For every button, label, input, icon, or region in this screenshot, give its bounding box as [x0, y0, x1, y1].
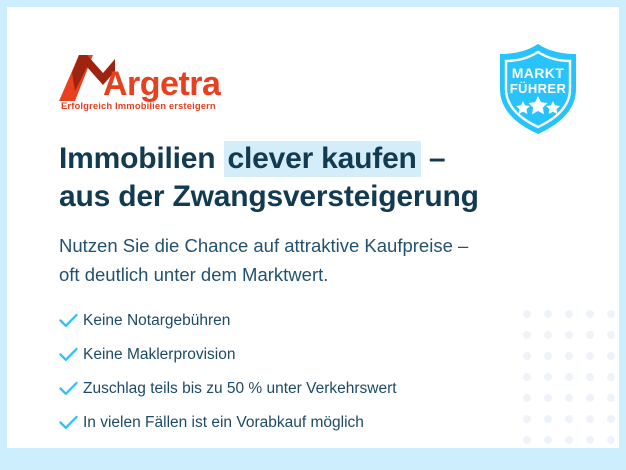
grid-dot — [544, 394, 552, 402]
headline-highlight: clever kaufen — [224, 141, 421, 177]
benefit-list: Keine Notargebühren Keine Maklerprovisio… — [59, 306, 397, 442]
banner-card: Argetra Erfolgreich Immobilien ersteiger… — [7, 7, 619, 448]
grid-dot — [565, 310, 573, 318]
headline-line-1: Immobilien clever kaufen – — [59, 140, 479, 178]
grid-dot — [565, 415, 573, 423]
grid-dot — [586, 310, 594, 318]
grid-dot — [523, 415, 531, 423]
headline-text-after: – — [421, 142, 446, 175]
grid-dot — [607, 310, 615, 318]
grid-dot — [565, 436, 573, 444]
grid-dot — [607, 394, 615, 402]
grid-dot — [607, 415, 615, 423]
grid-dot — [523, 352, 531, 360]
check-icon — [59, 347, 83, 362]
list-item: Zuschlag teils bis zu 50 % unter Verkehr… — [59, 374, 397, 403]
grid-dot — [607, 331, 615, 339]
promo-banner: Argetra Erfolgreich Immobilien ersteiger… — [0, 0, 626, 470]
grid-dot — [565, 394, 573, 402]
list-item: Keine Maklerprovision — [59, 340, 397, 369]
grid-dot — [544, 415, 552, 423]
list-item-label: In vielen Fällen ist ein Vorabkauf mögli… — [83, 414, 364, 432]
logo-tagline: Erfolgreich Immobilien ersteigern — [61, 101, 216, 112]
grid-dot — [523, 331, 531, 339]
grid-dot — [607, 352, 615, 360]
grid-dot — [544, 310, 552, 318]
grid-dot — [586, 352, 594, 360]
headline-text-before: Immobilien — [59, 142, 224, 175]
grid-dot — [586, 415, 594, 423]
grid-dot — [565, 331, 573, 339]
grid-dot — [565, 352, 573, 360]
grid-dot — [544, 331, 552, 339]
markt-fuehrer-badge: MARKT FÜHRER — [496, 43, 580, 135]
list-item-label: Keine Maklerprovision — [83, 346, 236, 364]
check-icon — [59, 415, 83, 430]
list-item-label: Keine Notargebühren — [83, 312, 230, 330]
grid-dot — [586, 331, 594, 339]
subheading: Nutzen Sie die Chance auf attraktive Kau… — [59, 232, 468, 289]
grid-dot — [523, 436, 531, 444]
grid-dot — [586, 373, 594, 381]
argetra-logo[interactable]: Argetra Erfolgreich Immobilien ersteiger… — [59, 51, 259, 113]
subheading-line-2: oft deutlich unter dem Marktwert. — [59, 261, 468, 290]
grid-dot — [607, 436, 615, 444]
subheading-line-1: Nutzen Sie die Chance auf attraktive Kau… — [59, 232, 468, 261]
list-item: Keine Notargebühren — [59, 306, 397, 335]
check-icon — [59, 313, 83, 328]
grid-dot — [607, 373, 615, 381]
list-item-label: Zuschlag teils bis zu 50 % unter Verkehr… — [83, 380, 397, 398]
grid-dot — [544, 352, 552, 360]
check-icon — [59, 381, 83, 396]
list-item: In vielen Fällen ist ein Vorabkauf mögli… — [59, 408, 397, 437]
grid-dot — [544, 373, 552, 381]
grid-dot — [523, 310, 531, 318]
grid-dot — [523, 373, 531, 381]
badge-line-2: FÜHRER — [496, 81, 580, 96]
headline-line-2: aus der Zwangsversteigerung — [59, 178, 479, 216]
badge-line-1: MARKT — [496, 65, 580, 81]
headline: Immobilien clever kaufen – aus der Zwang… — [59, 140, 479, 217]
grid-dot — [586, 436, 594, 444]
grid-dot — [523, 394, 531, 402]
grid-dot — [565, 373, 573, 381]
grid-dot — [586, 394, 594, 402]
grid-dot — [544, 436, 552, 444]
dot-grid-decoration — [523, 310, 619, 448]
logo-wordmark: Argetra — [103, 67, 220, 101]
